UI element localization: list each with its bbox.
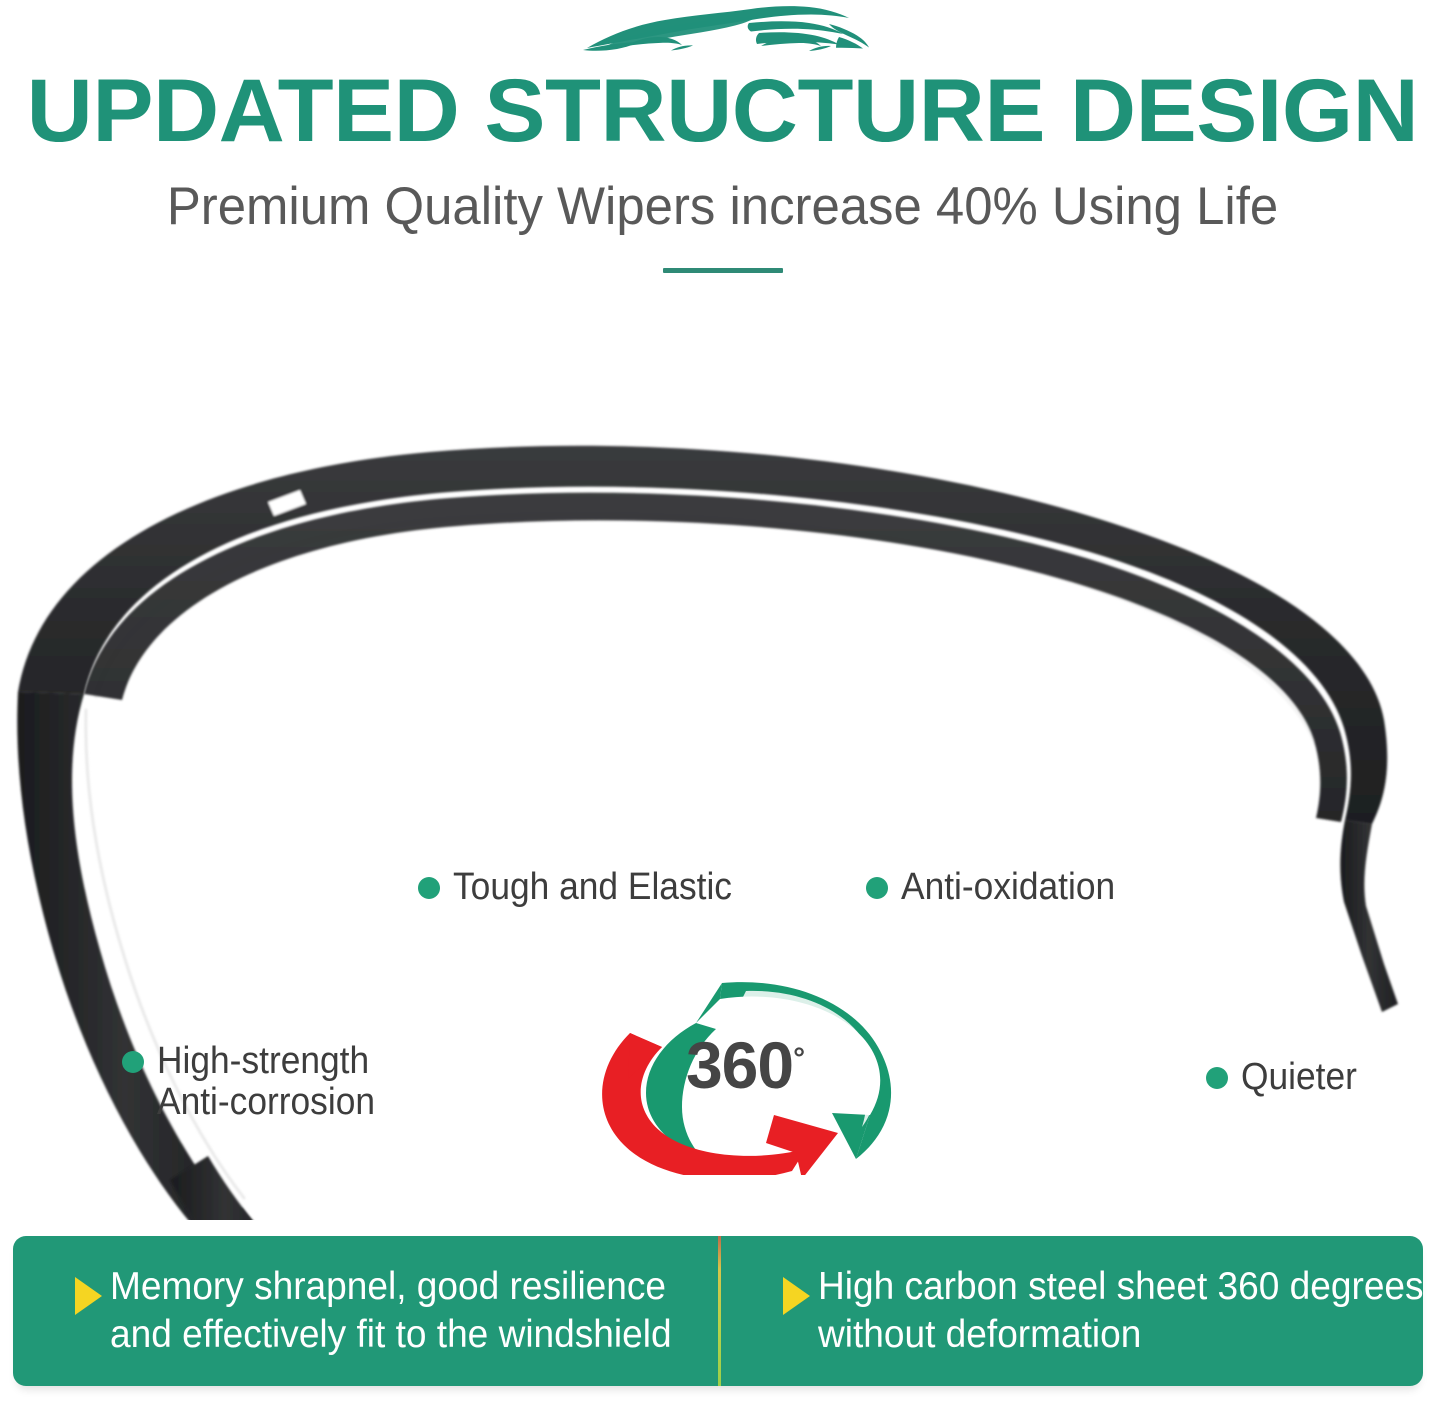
banner-divider <box>718 1236 721 1386</box>
feature-label-text-line2: Anti-corrosion <box>157 1082 375 1123</box>
triangle-bullet-icon <box>75 1277 102 1315</box>
banner-item-high-carbon-steel: High carbon steel sheet 360 degrees with… <box>701 1236 1423 1386</box>
banner-text-line2: without deformation <box>818 1311 1423 1359</box>
product-stage: Tough and Elastic Anti-oxidation High-st… <box>0 300 1445 1220</box>
feature-label-text: Tough and Elastic <box>453 867 732 908</box>
bullet-dot-icon <box>122 1051 144 1073</box>
feature-anti-oxidation: Anti-oxidation <box>866 867 1131 908</box>
page-subtitle: Premium Quality Wipers increase 40% Usin… <box>29 176 1416 238</box>
banner-text-line1: High carbon steel sheet 360 degrees <box>818 1263 1423 1311</box>
bullet-dot-icon <box>418 877 440 899</box>
car-silhouette-logo-icon <box>573 4 873 66</box>
feature-high-strength-anti-corrosion: High-strength Anti-corrosion <box>122 1041 391 1123</box>
page-title: UPDATED STRUCTURE DESIGN <box>0 62 1445 158</box>
banner-text-line2: and effectively fit to the windshield <box>110 1311 672 1359</box>
header-section: UPDATED STRUCTURE DESIGN Premium Quality… <box>0 0 1445 300</box>
feature-tough-and-elastic: Tough and Elastic <box>418 867 753 908</box>
triangle-bullet-icon <box>783 1277 810 1315</box>
title-divider <box>663 268 783 273</box>
feature-label-text: Anti-oxidation <box>901 867 1115 908</box>
feature-label-text: Quieter <box>1241 1057 1357 1098</box>
bullet-dot-icon <box>866 877 888 899</box>
feature-quieter: Quieter <box>1206 1057 1366 1098</box>
feature-label-text-line1: High-strength <box>157 1041 375 1082</box>
banner-text-line1: Memory shrapnel, good resilience <box>110 1263 672 1311</box>
bottom-feature-banner: Memory shrapnel, good resilience and eff… <box>13 1236 1423 1386</box>
bullet-dot-icon <box>1206 1067 1228 1089</box>
rotation-360-arrows-icon <box>570 955 920 1175</box>
rotation-360-badge: 360° <box>570 955 920 1175</box>
banner-item-memory-shrapnel: Memory shrapnel, good resilience and eff… <box>13 1236 701 1386</box>
